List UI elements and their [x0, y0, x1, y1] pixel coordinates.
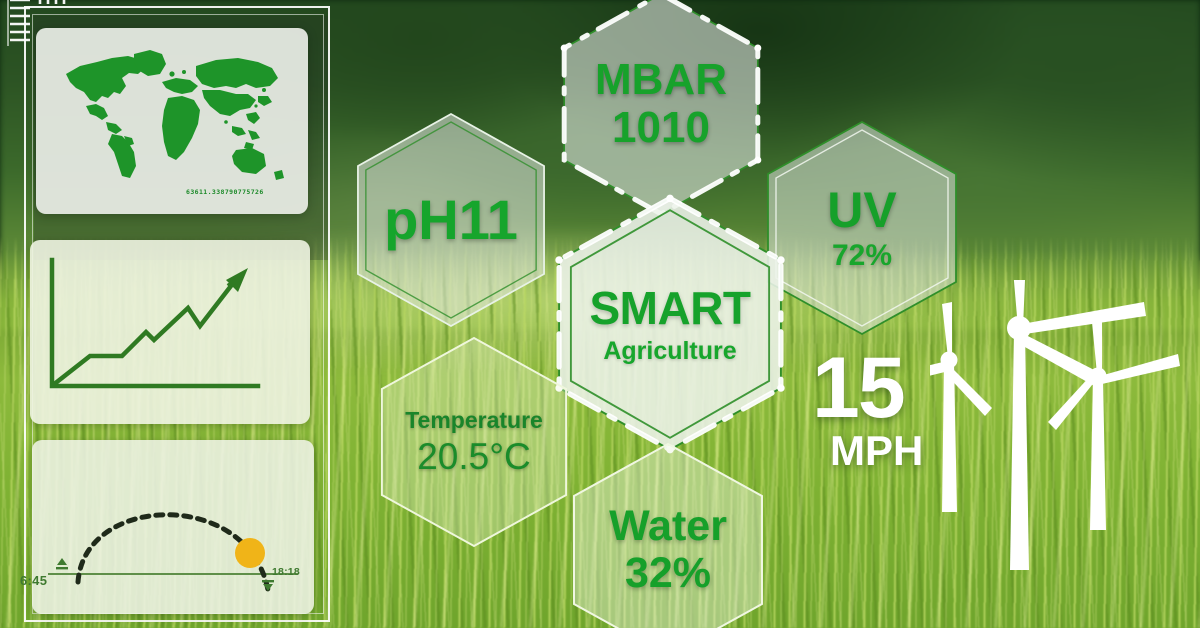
hex-smart-agriculture[interactable]: SMART Agriculture: [552, 196, 788, 452]
sunrise-time-label: 6:45: [20, 573, 47, 588]
hex-mbar-line2: 1010: [612, 106, 710, 150]
growth-chart-card[interactable]: [30, 240, 310, 424]
hex-uv-line1: UV: [827, 185, 896, 235]
hex-temperature-line2: 20.5°C: [417, 438, 531, 475]
hex-water-line1: Water: [609, 505, 727, 548]
hex-smart-line1: SMART: [589, 285, 750, 331]
growth-line-chart-icon: [42, 252, 298, 412]
world-map-icon: [50, 44, 294, 184]
hex-mbar-sensor[interactable]: MBAR 1010: [558, 0, 764, 216]
hex-smart-line2: Agriculture: [603, 339, 736, 364]
sunrise-arrow-up-icon: [56, 558, 68, 569]
hex-water-sensor[interactable]: Water 32%: [568, 442, 768, 628]
infographic-canvas: 63611.338790775726: [0, 0, 1200, 628]
hex-ph-sensor[interactable]: pH11: [352, 112, 550, 328]
hex-water-line2: 32%: [625, 552, 711, 595]
hex-ph-line1: pH11: [384, 192, 518, 248]
sunset-time-label: 18:18: [272, 566, 300, 578]
daylight-arc-card[interactable]: [32, 440, 314, 614]
world-map-card[interactable]: 63611.338790775726: [36, 28, 308, 214]
hex-mbar-line1: MBAR: [595, 58, 727, 102]
hex-temperature-sensor[interactable]: Temperature 20.5°C: [376, 336, 572, 548]
hex-temperature-line1: Temperature: [405, 409, 543, 432]
hex-uv-line2: 72%: [832, 241, 892, 271]
sunset-arrow-down-icon: [262, 580, 274, 591]
sun-arc-icon: [40, 448, 306, 606]
map-coordinate-code: 63611.338790775726: [186, 188, 316, 196]
wind-turbine-icon: [930, 280, 1200, 628]
